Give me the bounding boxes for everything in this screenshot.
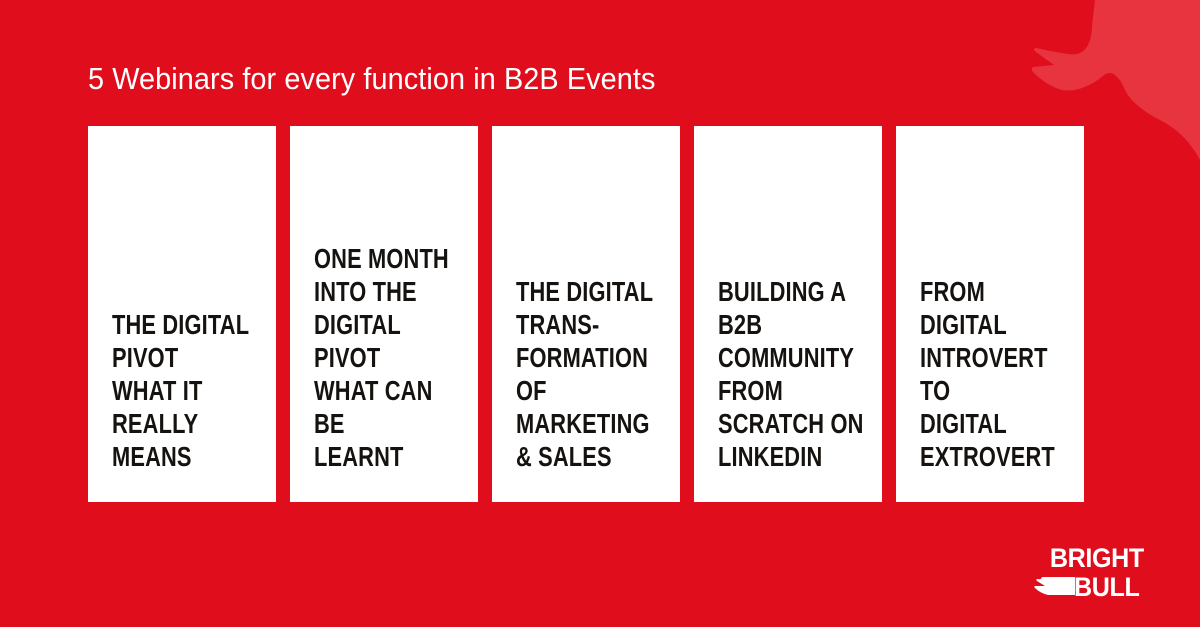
page-title: 5 Webinars for every function in B2B Eve… — [88, 60, 656, 98]
webinar-card-2[interactable]: ONE MONTH INTO THE DIGITAL PIVOT WHAT CA… — [290, 126, 478, 502]
webinar-card-title: BUILDING A B2B COMMUNITY FROM SCRATCH ON… — [718, 275, 868, 473]
webinar-card-list: THE DIGITAL PIVOT WHAT IT REALLY MEANS O… — [88, 126, 1084, 502]
brand-logo[interactable]: BRIGHT BULL — [1028, 543, 1178, 601]
logo-wordmark-bull: BULL — [1074, 571, 1140, 601]
webinar-card-4[interactable]: BUILDING A B2B COMMUNITY FROM SCRATCH ON… — [694, 126, 882, 502]
webinar-card-1[interactable]: THE DIGITAL PIVOT WHAT IT REALLY MEANS — [88, 126, 276, 502]
logo-wordmark-bright: BRIGHT — [1050, 543, 1144, 573]
webinar-card-title: ONE MONTH INTO THE DIGITAL PIVOT WHAT CA… — [314, 242, 464, 473]
webinar-promo-graphic: { "background": { "color": "#E00E1C", "w… — [0, 0, 1200, 627]
webinar-card-title: THE DIGITAL TRANS- FORMATION OF MARKETIN… — [516, 275, 666, 473]
logo-bull-head-icon — [1034, 577, 1075, 595]
webinar-card-3[interactable]: THE DIGITAL TRANS- FORMATION OF MARKETIN… — [492, 126, 680, 502]
webinar-card-title: THE DIGITAL PIVOT WHAT IT REALLY MEANS — [112, 308, 262, 473]
webinar-card-5[interactable]: FROM DIGITAL INTROVERT TO DIGITAL EXTROV… — [896, 126, 1084, 502]
webinar-card-title: FROM DIGITAL INTROVERT TO DIGITAL EXTROV… — [920, 275, 1070, 473]
